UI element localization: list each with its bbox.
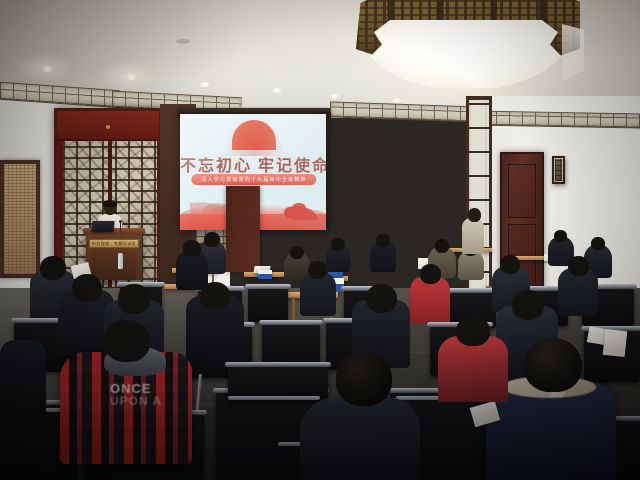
paper-held-4 <box>603 329 628 357</box>
attendee-head <box>40 256 66 280</box>
attendee-head <box>308 261 327 279</box>
attendee-body-front-center <box>300 398 420 480</box>
speaker-hair <box>103 200 117 207</box>
attendee-head <box>366 284 397 313</box>
attendee-head <box>512 290 544 320</box>
attendee-head-front-red <box>456 316 490 346</box>
attendee-head <box>435 239 449 253</box>
hoodie-print-line2: UPON A <box>110 395 186 408</box>
ceiling-lamp-icon <box>356 0 580 94</box>
attendee-head <box>200 282 230 310</box>
screen-right-edge <box>326 112 331 232</box>
ceiling-vent <box>176 39 190 44</box>
door-panel-upper <box>508 164 536 218</box>
attendee-head <box>376 234 390 247</box>
chair-top-rail <box>225 362 331 367</box>
microphone-icon <box>120 222 121 233</box>
conference-hall-photo: 不忘初心 牢记使命 深入学习贯彻党的十九届四中全会精神 <box>0 0 640 480</box>
wall-plaque-icon <box>552 156 565 184</box>
attendee-head <box>204 232 220 247</box>
chair-top-rail <box>245 284 291 289</box>
attendee-head <box>554 230 567 242</box>
downlight-glow-1 <box>14 52 74 84</box>
door-icon-rear <box>226 186 260 272</box>
attendee-body-front-left <box>0 340 46 420</box>
chair-top-rail <box>259 320 323 325</box>
booklet-far-1 <box>258 270 272 279</box>
attendee-head <box>331 238 345 251</box>
attendee-head <box>500 255 520 274</box>
attendee-head-navy <box>524 338 582 392</box>
lattice-knob <box>106 125 110 129</box>
bamboo-wall-panel <box>0 160 40 278</box>
attendee-plaid-hoodie: ONCE UPON A <box>60 352 192 464</box>
downlight-4 <box>272 88 282 93</box>
attendee-head <box>183 240 201 257</box>
downlight-glow-2 <box>98 60 158 92</box>
lectern-nameplate-text: 中共党校 · 专题培训班 <box>92 241 136 247</box>
lectern-body <box>92 251 136 280</box>
wall-plaque-inner <box>555 159 562 181</box>
chair-mid-3 <box>248 288 288 322</box>
fret-border-far <box>470 110 640 128</box>
standing-attendee-head <box>468 208 481 222</box>
standing-attendee-body <box>462 218 484 254</box>
bamboo-weave-texture <box>4 164 36 274</box>
lattice-screen-header <box>57 111 159 141</box>
lectern-icon: 中共党校 · 专题培训班 <box>86 232 142 280</box>
hoodie-print-text: ONCE UPON A <box>110 382 186 408</box>
downlight-3 <box>200 82 210 87</box>
attendee-head <box>420 264 441 284</box>
water-bottle <box>118 253 123 269</box>
attendee-head-plaid <box>104 320 150 362</box>
lectern-nameplate: 中共党校 · 专题培训班 <box>89 239 139 248</box>
laptop-on-lectern <box>91 221 114 232</box>
attendee-head <box>568 256 589 276</box>
attendee-head-front-center <box>336 352 392 406</box>
attendee-head <box>290 246 304 259</box>
attendee-head <box>591 237 605 250</box>
chair-armrest-2 <box>228 396 320 400</box>
attendee-head <box>118 284 150 314</box>
attendee-head <box>72 274 102 302</box>
